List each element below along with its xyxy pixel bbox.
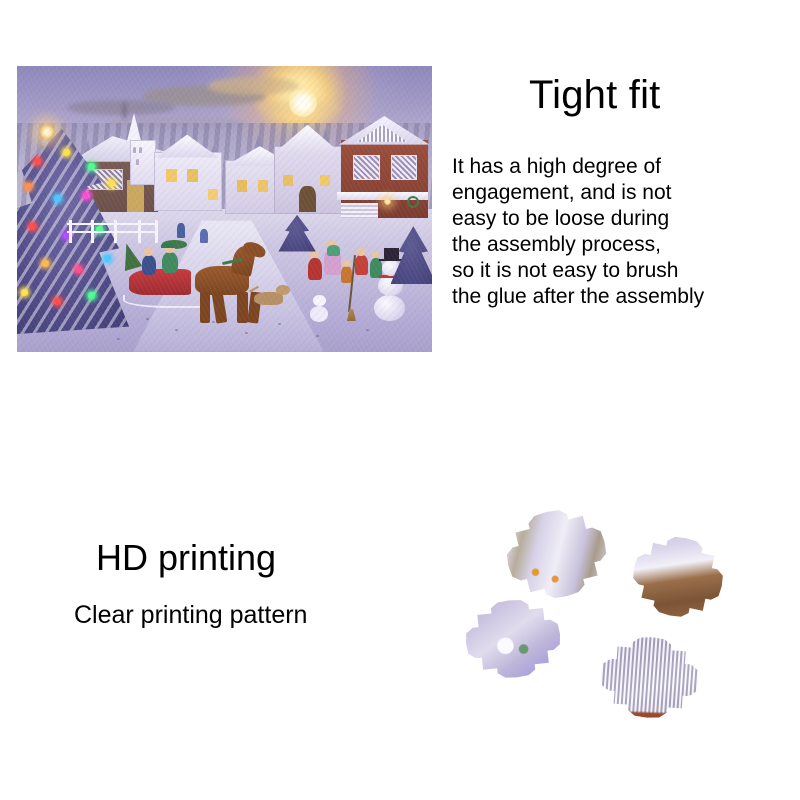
snow-speck [117, 338, 120, 340]
tree-light [54, 298, 61, 305]
horse-leg [200, 292, 211, 323]
villager-figure [177, 223, 185, 237]
snow-speck [175, 329, 178, 331]
horse-leg [237, 292, 248, 323]
fence-post [69, 220, 72, 243]
dog-head [276, 285, 289, 295]
tight-fit-description: It has a high degree of engagement, and … [452, 154, 792, 310]
rider-hat [161, 243, 175, 248]
lit-window [258, 180, 268, 191]
snowman-hat-top [384, 248, 399, 261]
fence-post [138, 220, 141, 243]
snowman-base [374, 295, 405, 321]
church-window [133, 147, 136, 153]
villager-coat [327, 245, 340, 256]
fence-post [155, 220, 158, 243]
church-window [136, 159, 139, 165]
tight-fit-line: the glue after the assembly [452, 284, 792, 310]
lit-window [187, 169, 198, 182]
child-head [356, 248, 365, 255]
tight-fit-line: engagement, and is not [452, 180, 792, 206]
villager-figure [308, 258, 322, 281]
tree-topper-light [40, 125, 54, 139]
lit-window [320, 175, 330, 186]
snow-speck [212, 321, 215, 323]
porch-steps [341, 203, 378, 217]
victorian-window [391, 155, 418, 180]
fence-post [114, 220, 117, 243]
child-figure [355, 255, 367, 275]
piece-snowy-roof [610, 523, 741, 648]
cloud-shape [208, 77, 299, 94]
victorian-window [353, 155, 380, 180]
hd-printing-subtitle: Clear printing pattern [74, 600, 307, 630]
small-snowman-head [313, 295, 325, 306]
fence-post [91, 220, 94, 243]
tree-light [63, 149, 70, 156]
snow-speck [366, 329, 369, 331]
villager-figure [200, 229, 208, 243]
small-snowman-base [310, 306, 329, 322]
fence-rail [67, 231, 158, 233]
hd-printing-heading: HD printing [96, 537, 276, 579]
tree-light [88, 292, 95, 299]
tight-fit-line: easy to be loose during [452, 206, 792, 232]
moon-glow [289, 89, 317, 117]
snow-speck [316, 335, 319, 337]
tree-light [88, 163, 95, 170]
sleigh-rider [162, 252, 178, 273]
cloud-shape [67, 100, 175, 114]
piece-snowman-broom [450, 591, 578, 705]
tight-fit-line: the assembly process, [452, 232, 792, 258]
porch-lamp-glow [384, 198, 391, 205]
church-tower [130, 140, 155, 185]
tight-fit-heading: Tight fit [529, 72, 660, 118]
snow-speck [146, 318, 149, 320]
tree-light [104, 255, 111, 262]
tree-light [34, 158, 41, 165]
red-sleigh [129, 269, 191, 295]
piece-gable-fretwork [584, 630, 713, 744]
gray-house-door [299, 186, 316, 212]
lit-window [208, 189, 218, 200]
lit-window [237, 180, 247, 191]
tight-fit-line: It has a high degree of [452, 154, 792, 180]
christmas-village-puzzle-artwork [17, 66, 432, 352]
church-spire [127, 113, 141, 141]
lit-window [283, 175, 293, 186]
church-window [139, 147, 142, 153]
tight-fit-line: so it is not easy to brush [452, 258, 792, 284]
sleigh-rider [142, 255, 157, 275]
lit-window [166, 169, 177, 182]
sleigh-rider-head [143, 248, 154, 257]
white-fence [67, 220, 158, 243]
fence-rail [67, 223, 158, 225]
chimney-smoke [123, 103, 126, 119]
